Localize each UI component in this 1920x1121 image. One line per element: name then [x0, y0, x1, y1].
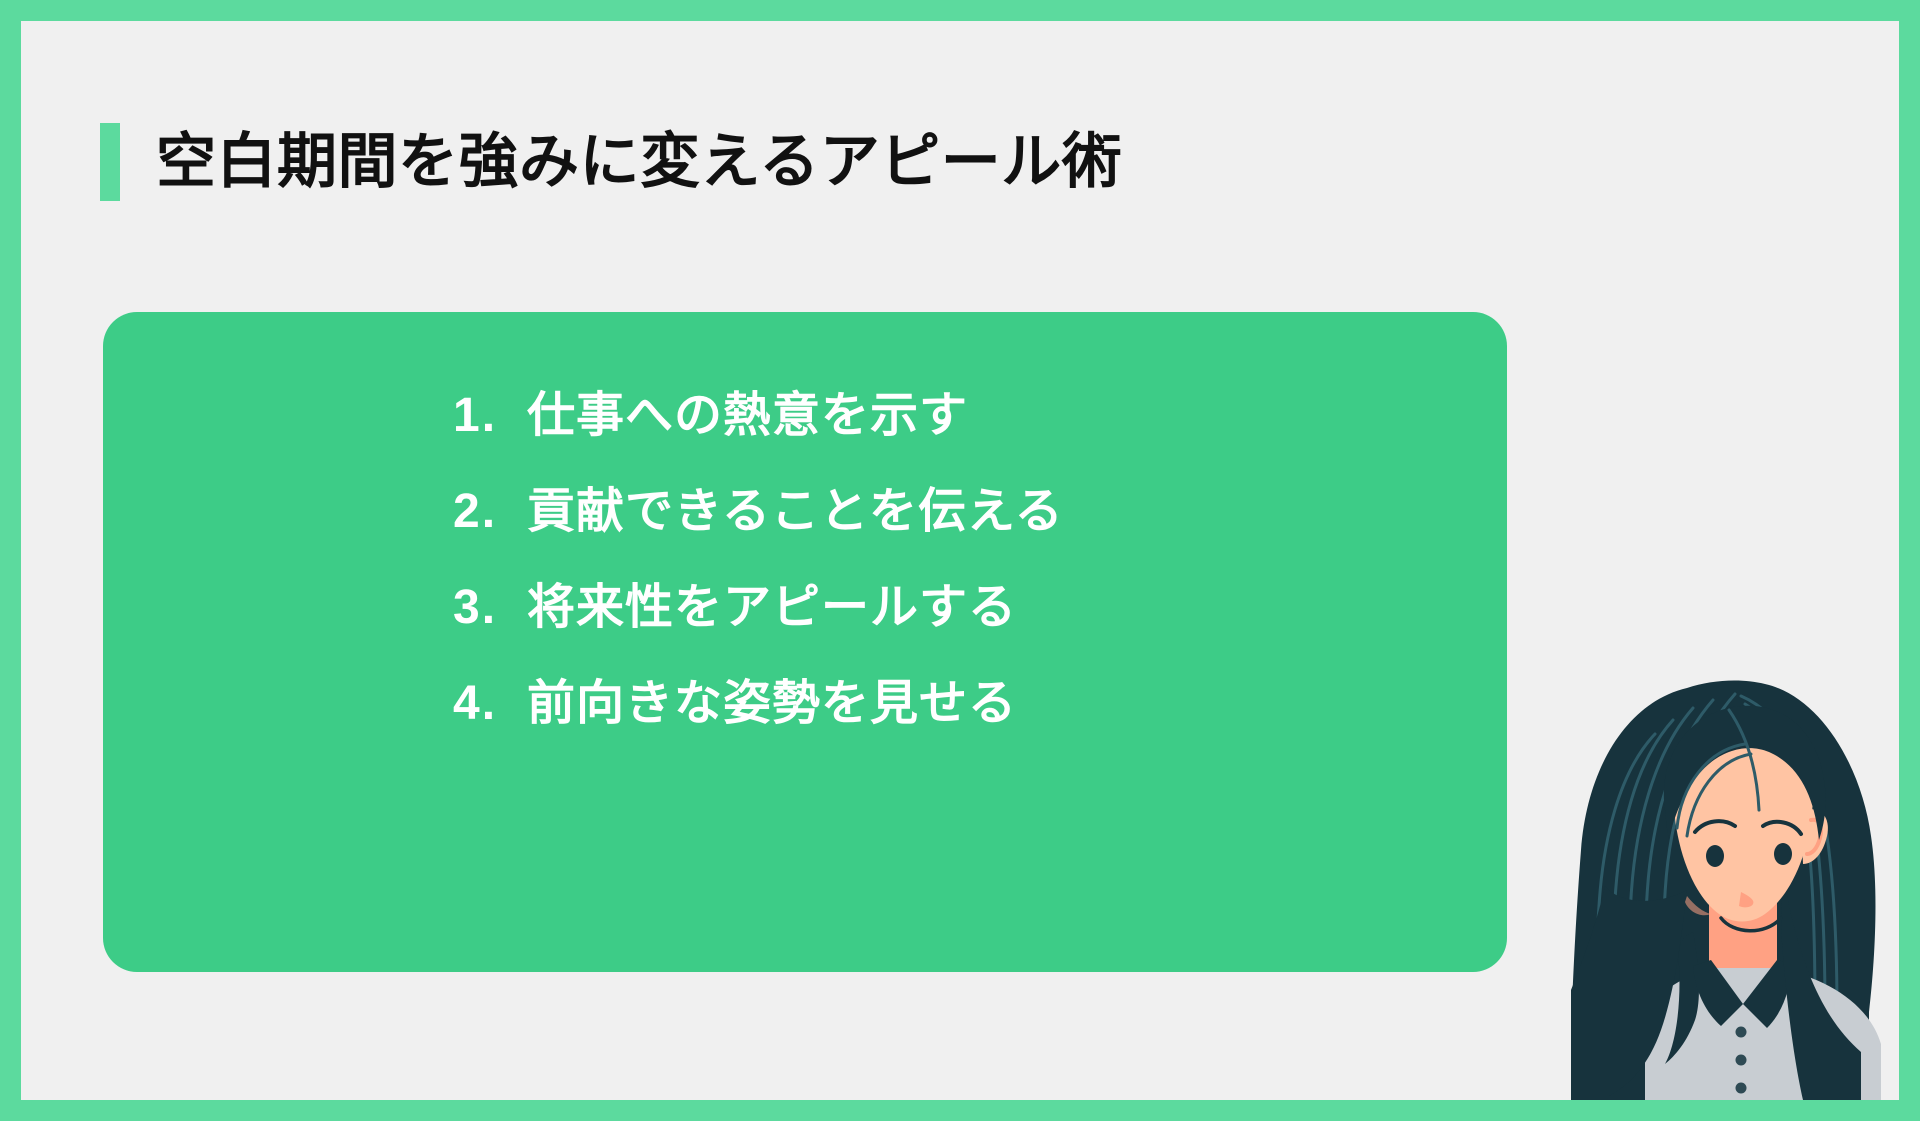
page-title: 空白期間を強みに変えるアピール術: [156, 132, 1122, 192]
slide-root: 空白期間を強みに変えるアピール術 1. 仕事への熱意を示す 2. 貢献できること…: [0, 0, 1920, 1121]
list-item-label: 将来性をアピールする: [527, 560, 1017, 656]
shirt-button: [1736, 1055, 1747, 1066]
list-item-number: 4.: [453, 656, 527, 752]
slide-canvas: 空白期間を強みに変えるアピール術 1. 仕事への熱意を示す 2. 貢献できること…: [21, 21, 1899, 1100]
list-item: 1. 仕事への熱意を示す: [103, 368, 1507, 464]
list-item-number: 1.: [453, 368, 527, 464]
title-block: 空白期間を強みに変えるアピール術: [100, 122, 1122, 202]
shirt-button: [1736, 1027, 1747, 1038]
smiling-woman-illustration: [1569, 660, 1899, 1100]
list-item-label: 貢献できることを伝える: [527, 464, 1064, 560]
eye-right: [1774, 843, 1792, 865]
list-item-number: 2.: [453, 464, 527, 560]
list-item: 4. 前向きな姿勢を見せる: [103, 656, 1507, 752]
appeal-points-list: 1. 仕事への熱意を示す 2. 貢献できることを伝える 3. 将来性をアピールす…: [103, 368, 1507, 752]
eye-left: [1706, 845, 1724, 867]
green-list-card: 1. 仕事への熱意を示す 2. 貢献できることを伝える 3. 将来性をアピールす…: [103, 312, 1507, 972]
list-item: 2. 貢献できることを伝える: [103, 464, 1507, 560]
list-item-label: 仕事への熱意を示す: [527, 368, 968, 464]
title-accent-bar: [100, 123, 120, 201]
list-item: 3. 将来性をアピールする: [103, 560, 1507, 656]
list-item-number: 3.: [453, 560, 527, 656]
shirt-button: [1736, 1083, 1747, 1094]
list-item-label: 前向きな姿勢を見せる: [527, 656, 1017, 752]
